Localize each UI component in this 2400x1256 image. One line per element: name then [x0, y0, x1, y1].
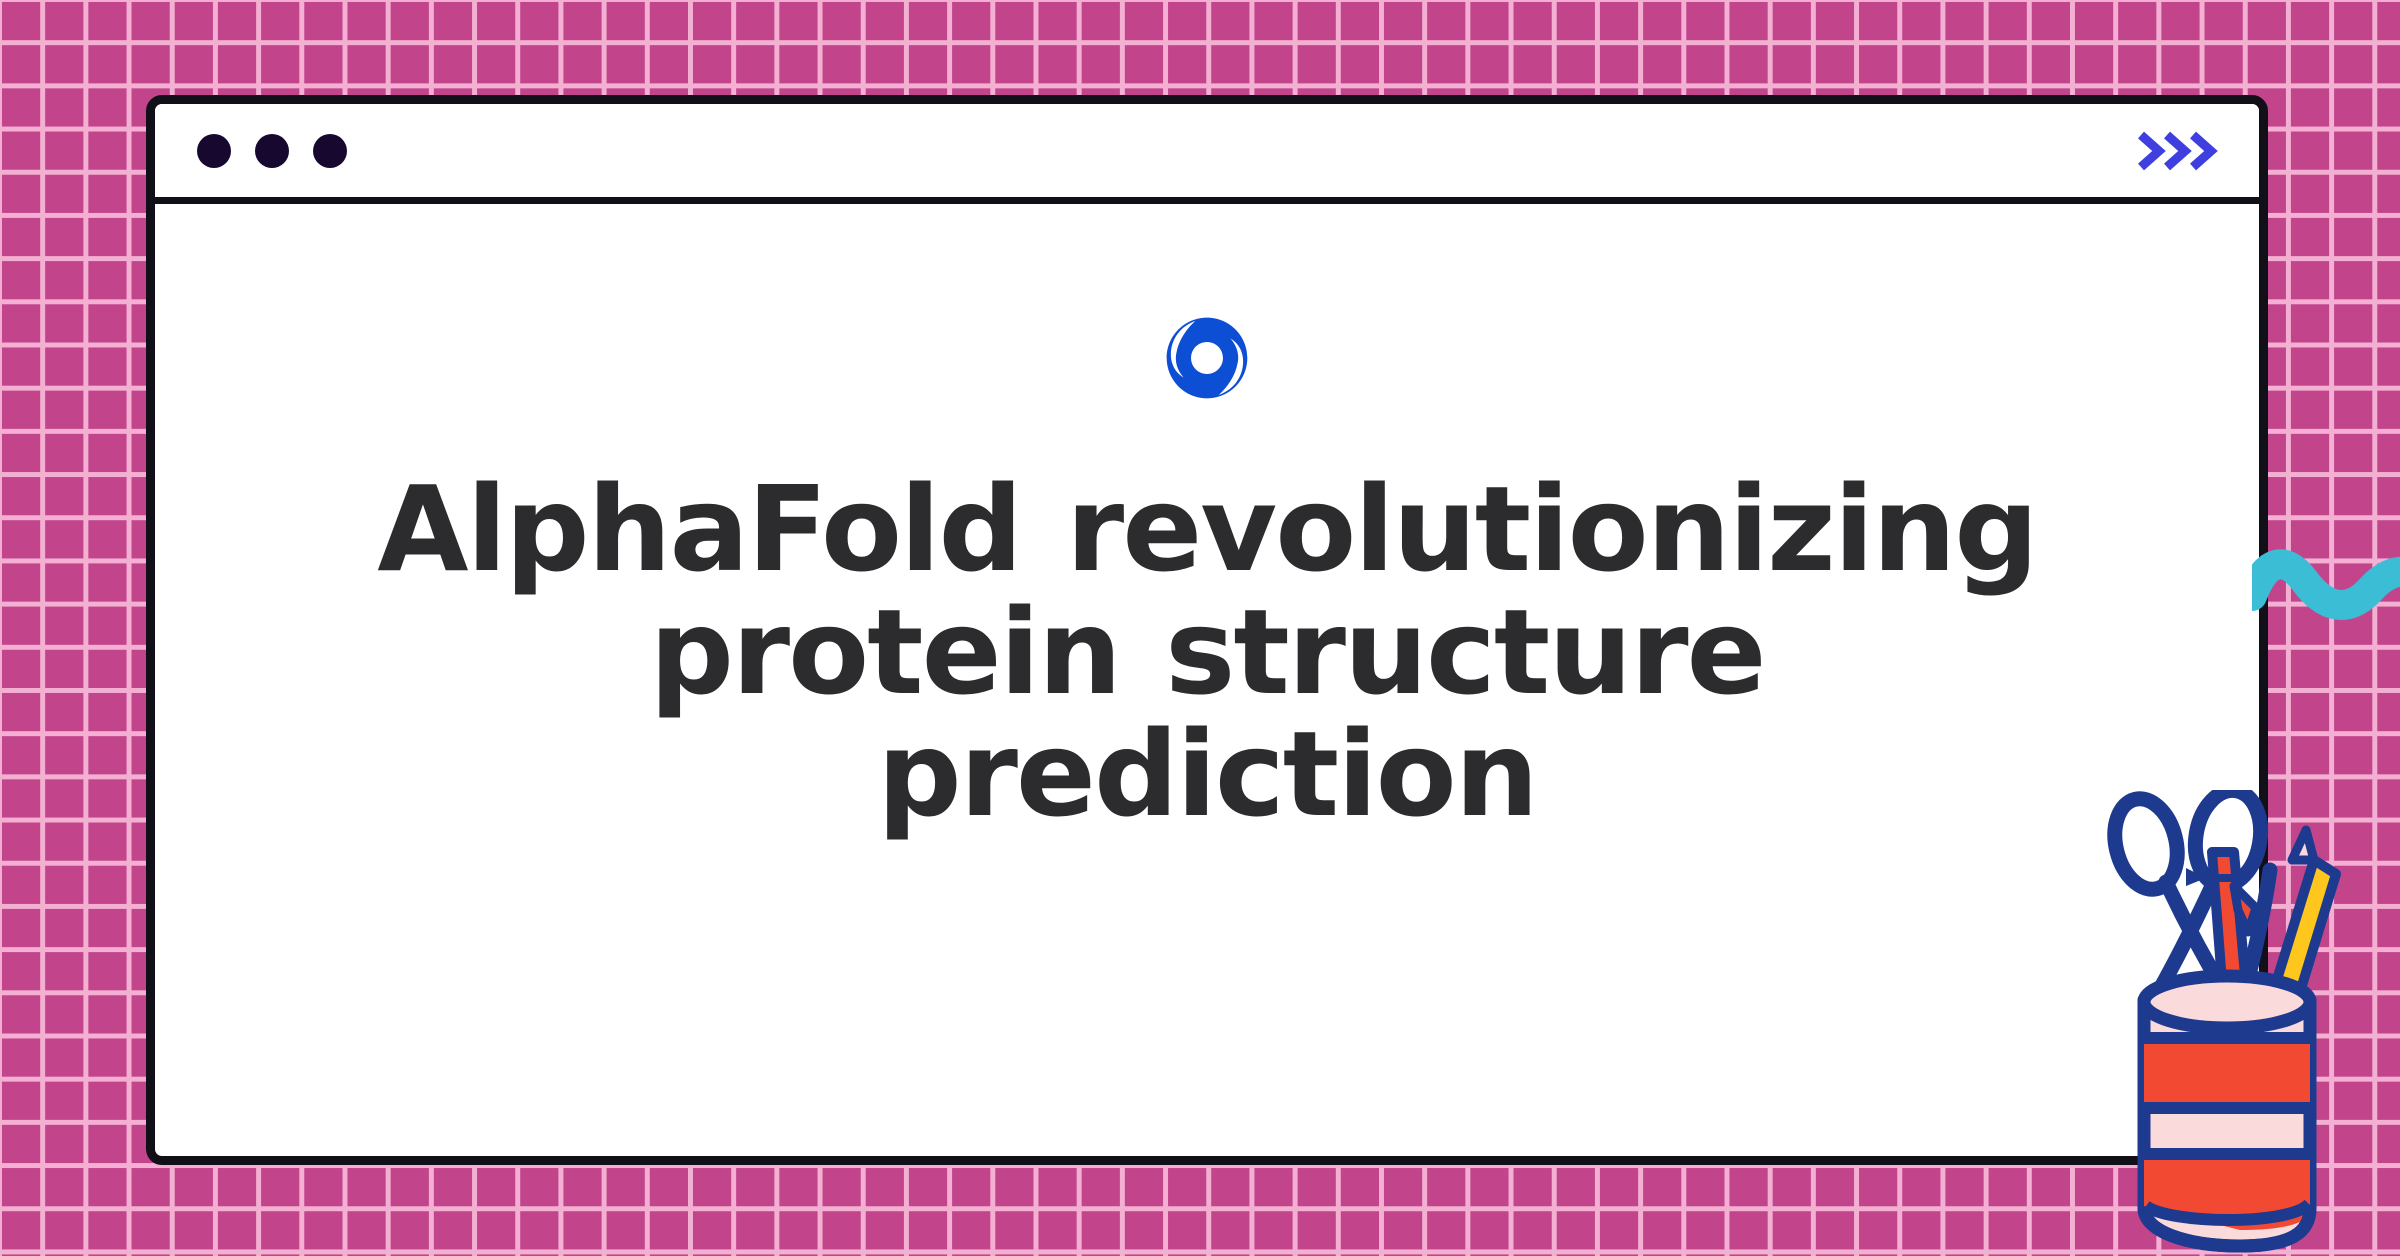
headline-line-3: prediction [307, 713, 2107, 836]
spiral-logo-icon [1165, 316, 1249, 400]
wavy-line-icon [2252, 518, 2400, 658]
window-titlebar [155, 104, 2259, 204]
slide-canvas: AlphaFold revolutionizing protein struct… [0, 0, 2400, 1256]
headline-line-1: AlphaFold revolutionizing [307, 468, 2107, 591]
page-title: AlphaFold revolutionizing protein struct… [307, 468, 2107, 836]
slide-content: AlphaFold revolutionizing protein struct… [155, 204, 2259, 1149]
traffic-light-buttons [197, 134, 347, 168]
minimize-button-dot[interactable] [255, 134, 289, 168]
browser-window: AlphaFold revolutionizing protein struct… [146, 95, 2268, 1165]
triple-chevron-right-icon[interactable] [2135, 127, 2221, 175]
maximize-button-dot[interactable] [313, 134, 347, 168]
close-button-dot[interactable] [197, 134, 231, 168]
headline-line-2: protein structure [307, 591, 2107, 714]
pencil-icon [2262, 830, 2336, 1038]
